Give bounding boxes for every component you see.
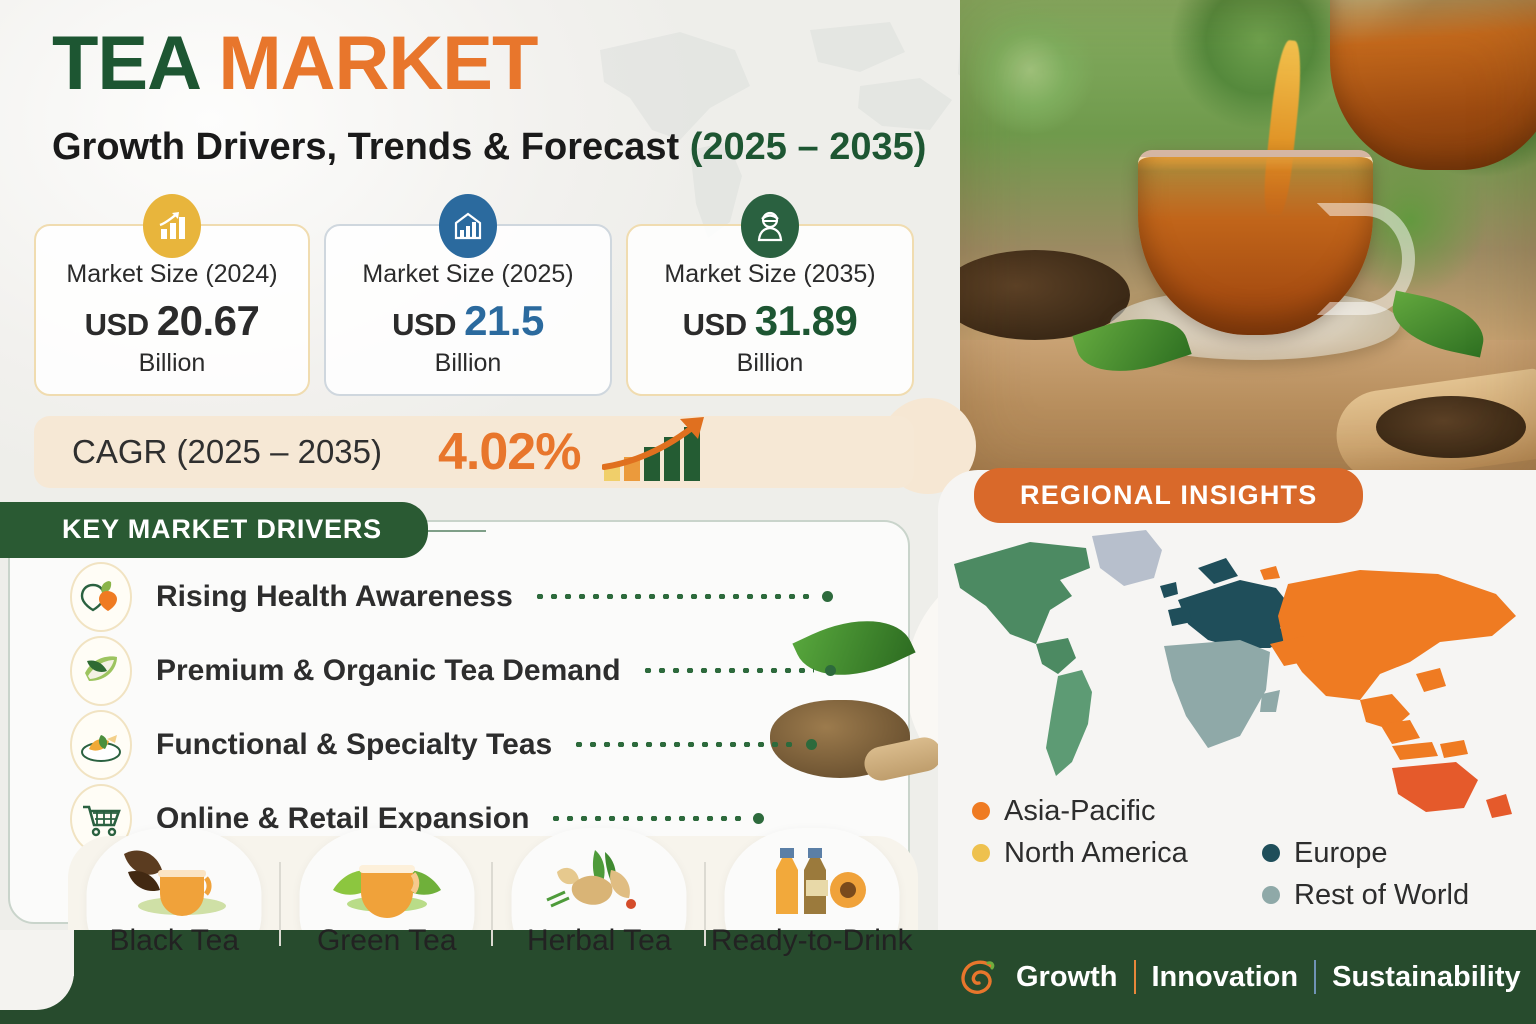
tea-leaf-icon [70,636,132,706]
heart-health-icon [70,562,132,632]
tea-type-name: Herbal Tea [527,924,672,958]
subtitle-years: (2025 – 2035) [690,126,927,168]
market-size-cards: Market Size (2024) USD 20.67 Billion Mar… [34,224,914,396]
driver-row-functional-specialty[interactable]: Functional & Specialty Teas [70,708,910,782]
stat-unit: Billion [435,349,502,378]
driver-label: Rising Health Awareness [156,580,513,614]
infographic-canvas: TEA MARKET Growth Drivers, Trends & Fore… [0,0,1536,1024]
driver-connector [641,668,836,674]
stat-number: 31.89 [755,297,858,344]
stat-card-2025: Market Size (2025) USD 21.5 Billion [324,224,612,396]
legend-dot [1262,844,1280,862]
stat-prefix: USD [85,307,149,342]
regional-world-map [940,524,1536,824]
stat-label: Market Size (2035) [664,260,875,289]
tea-type-name: Ready-to-Drink [711,924,913,958]
legend-dot [1262,886,1280,904]
factory-chart-icon [439,194,497,258]
driver-label: Premium & Organic Tea Demand [156,654,621,688]
stat-prefix: USD [683,307,747,342]
title-market: MARKET [218,21,537,106]
bottles-icon [752,846,872,918]
legend-dot [972,844,990,862]
footer-item-innovation[interactable]: Innovation [1136,961,1315,994]
herbal-bowl-icon [70,710,132,780]
driver-connector [572,742,817,748]
stat-label: Market Size (2025) [362,260,573,289]
stat-number: 21.5 [464,297,544,344]
stat-value: USD 20.67 [85,297,260,345]
cagr-banner: CAGR (2025 – 2035) 4.02% [34,416,914,488]
legend-item-asia-pacific[interactable]: Asia-Pacific [972,790,1188,832]
legend-label: Europe [1294,837,1388,870]
legend-label: Rest of World [1294,879,1469,912]
legend-item-europe[interactable]: Europe [1262,832,1469,874]
driver-row-health-awareness[interactable]: Rising Health Awareness [70,560,910,634]
title-tea: TEA [52,21,198,106]
driver-connector [533,594,833,600]
stat-card-2035: Market Size (2035) USD 31.89 Billion [626,224,914,396]
footer-item-sustainability[interactable]: Sustainability [1316,961,1536,994]
footer-items: Growth Innovation Sustainability Global … [958,930,1536,1024]
stat-card-2024: Market Size (2024) USD 20.67 Billion [34,224,310,396]
legend-dot [972,802,990,820]
page-subtitle: Growth Drivers, Trends & Forecast (2025 … [52,126,926,169]
stat-number: 20.67 [157,297,260,344]
stat-label: Market Size (2024) [66,260,277,289]
stat-unit: Billion [737,349,804,378]
cagr-growth-chart-icon [602,417,714,488]
growth-chart-icon [143,194,201,258]
page-title: TEA MARKET [52,26,537,102]
stat-value: USD 21.5 [392,297,544,345]
green-tea-cup-icon [327,846,447,918]
black-tea-cup-icon [114,846,234,918]
tea-type-ready-to-drink[interactable]: Ready-to-Drink [706,836,919,976]
footer-item-growth[interactable]: Growth [1000,961,1134,994]
regional-insights-heading: REGIONAL INSIGHTS [974,468,1363,523]
tea-picker-icon [741,194,799,258]
stat-prefix: USD [392,307,456,342]
stat-unit: Billion [139,349,206,378]
driver-row-premium-organic[interactable]: Premium & Organic Tea Demand [70,634,910,708]
growth-swirl-logo [958,957,998,997]
key-market-drivers-heading: KEY MARKET DRIVERS [0,502,428,558]
driver-connector [549,816,764,822]
driver-label: Online & Retail Expansion [156,802,529,836]
tea-type-name: Black Tea [109,924,239,958]
drivers-list: Rising Health Awareness Premium & Organi… [70,560,910,856]
legend-item-rest-of-world[interactable]: Rest of World [1262,874,1469,916]
legend-label: North America [1004,837,1188,870]
tea-type-name: Green Tea [317,924,457,958]
legend-item-north-america[interactable]: North America [972,832,1188,874]
tea-pouring-photo [960,0,1536,480]
cagr-value: 4.02% [438,422,580,482]
herbal-roots-icon [539,846,659,918]
legend-label: Asia-Pacific [1004,795,1156,828]
driver-label: Functional & Specialty Teas [156,728,552,762]
subtitle-text: Growth Drivers, Trends & Forecast [52,126,679,168]
cagr-label: CAGR (2025 – 2035) [72,433,382,471]
stat-value: USD 31.89 [683,297,858,345]
